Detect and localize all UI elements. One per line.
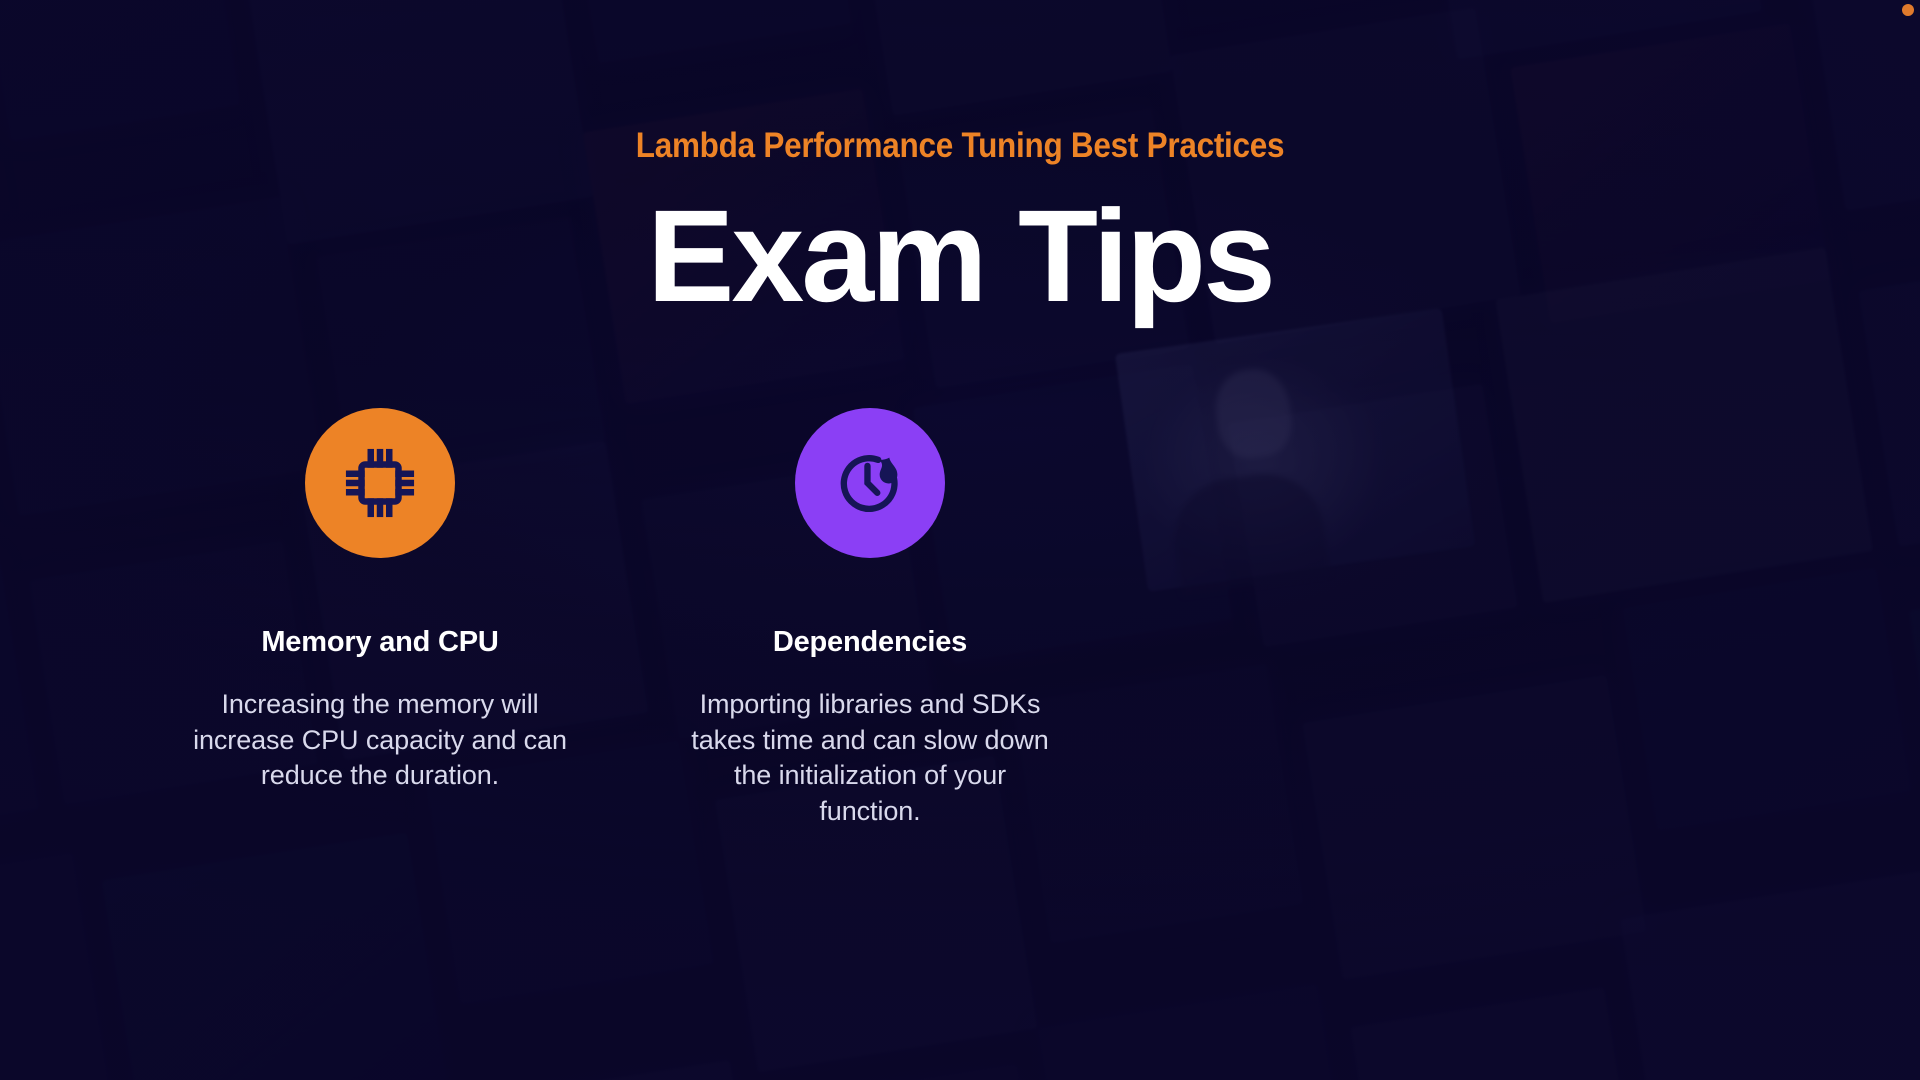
orange-dot-marker (1902, 4, 1914, 16)
feature-body: Importing libraries and SDKs takes time … (680, 687, 1060, 830)
feature-title: Dependencies (680, 626, 1060, 659)
page-title: Exam Tips (0, 190, 1920, 321)
cpu-chip-icon-badge (305, 408, 455, 558)
cpu-chip-icon (343, 446, 417, 520)
feature-item-dependencies: Dependencies Importing libraries and SDK… (680, 408, 1060, 830)
feature-item-memory-and-cpu: Memory and CPU Increasing the memory wil… (190, 408, 570, 830)
slide-root: Lambda Performance Tuning Best Practices… (0, 0, 1920, 1080)
slide-kicker: Lambda Performance Tuning Best Practices (96, 126, 1824, 166)
feature-title: Memory and CPU (190, 626, 570, 659)
feature-list: Memory and CPU Increasing the memory wil… (190, 408, 1190, 830)
slide-content: Lambda Performance Tuning Best Practices… (0, 0, 1920, 1080)
clock-flame-icon (832, 445, 908, 521)
clock-flame-icon-badge (795, 408, 945, 558)
feature-body: Increasing the memory will increase CPU … (190, 687, 570, 794)
